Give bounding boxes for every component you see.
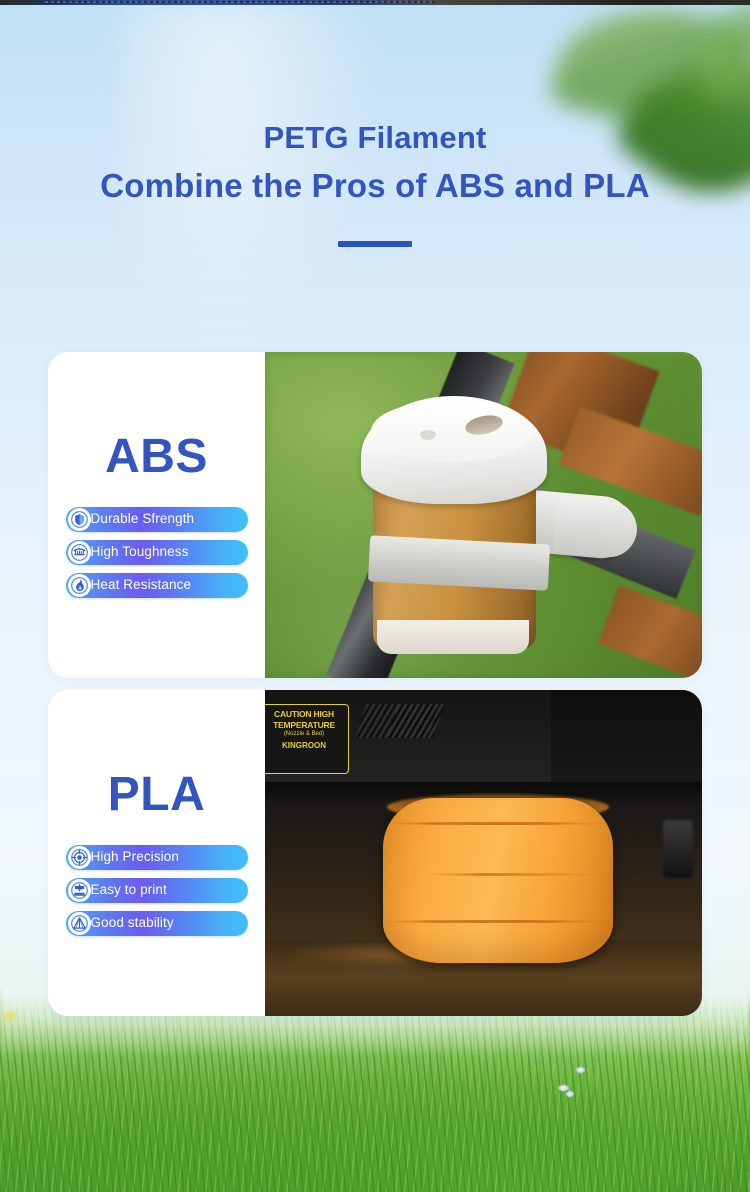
- pla-feature-badges: High Precision Easy to print: [66, 845, 248, 936]
- photo-cup-lid-top: [371, 400, 533, 462]
- abs-card-info: ABS Durable Sfrength: [48, 352, 265, 678]
- pla-card-info: PLA High Precision: [48, 690, 265, 1016]
- photo-printer-gantry: [551, 690, 701, 782]
- target-crosshair-icon: [68, 846, 91, 869]
- photo-vase-layer-line: [425, 873, 611, 876]
- badge-heat-resistance[interactable]: Heat Resistance: [66, 573, 248, 598]
- spring-arc-icon: [68, 541, 91, 564]
- white-flower-icon: [576, 1067, 585, 1073]
- badge-good-stability[interactable]: Good stability: [66, 911, 248, 936]
- pla-orange-vase-photo: CAUTION HIGH TEMPERATURE (Nozzle & Bed) …: [265, 690, 702, 1016]
- yellow-flower-blur: [4, 1011, 16, 1021]
- photo-vase-layer-line: [385, 920, 611, 923]
- badge-durable-strength[interactable]: Durable Sfrength: [66, 507, 248, 532]
- photo-coffee-cup-base: [377, 620, 529, 654]
- material-name-pla: PLA: [108, 771, 206, 819]
- photo-vase-layer-line: [385, 822, 611, 825]
- caution-label-line2: TEMPERATURE: [265, 720, 348, 731]
- photo-printer-rod: [663, 820, 693, 878]
- badge-high-precision[interactable]: High Precision: [66, 845, 248, 870]
- badge-easy-to-print[interactable]: Easy to print: [66, 878, 248, 903]
- photo-cup-holder-band: [368, 535, 550, 590]
- title-divider: [338, 241, 412, 247]
- caution-label-line1: CAUTION HIGH: [265, 709, 348, 720]
- shield-icon: [68, 508, 91, 531]
- white-flower-icon: [558, 1085, 569, 1091]
- caution-label-line3: (Nozzle & Bed): [265, 730, 348, 739]
- material-card-abs: ABS Durable Sfrength: [48, 352, 702, 678]
- promo-page: PETG Filament Combine the Pros of ABS an…: [0, 0, 750, 1192]
- badge-label: High Precision: [91, 850, 179, 864]
- badge-label: High Toughness: [91, 545, 189, 559]
- badge-label: Durable Sfrength: [91, 512, 195, 526]
- page-title-line2: Combine the Pros of ABS and PLA: [0, 165, 750, 207]
- page-header: PETG Filament Combine the Pros of ABS an…: [0, 118, 750, 247]
- material-card-pla: PLA High Precision: [48, 690, 702, 1016]
- abs-cup-holder-photo: [265, 352, 702, 678]
- white-flower-icon: [566, 1091, 574, 1097]
- printer-nozzle-icon: [68, 879, 91, 902]
- material-name-abs: ABS: [105, 433, 208, 481]
- grass-footer-image: [0, 987, 750, 1192]
- photo-caution-label: CAUTION HIGH TEMPERATURE (Nozzle & Bed) …: [265, 704, 349, 774]
- badge-label: Easy to print: [91, 883, 167, 897]
- top-image-sliver: [0, 0, 750, 5]
- caution-label-brand: KINGROON: [265, 741, 348, 750]
- pyramid-icon: [68, 912, 91, 935]
- badge-label: Good stability: [91, 916, 174, 930]
- badge-label: Heat Resistance: [91, 578, 192, 592]
- abs-feature-badges: Durable Sfrength High Toughness: [66, 507, 248, 598]
- page-title-line1: PETG Filament: [0, 118, 750, 158]
- photo-cup-lid-dimple: [420, 430, 436, 440]
- badge-high-toughness[interactable]: High Toughness: [66, 540, 248, 565]
- flame-icon: [68, 574, 91, 597]
